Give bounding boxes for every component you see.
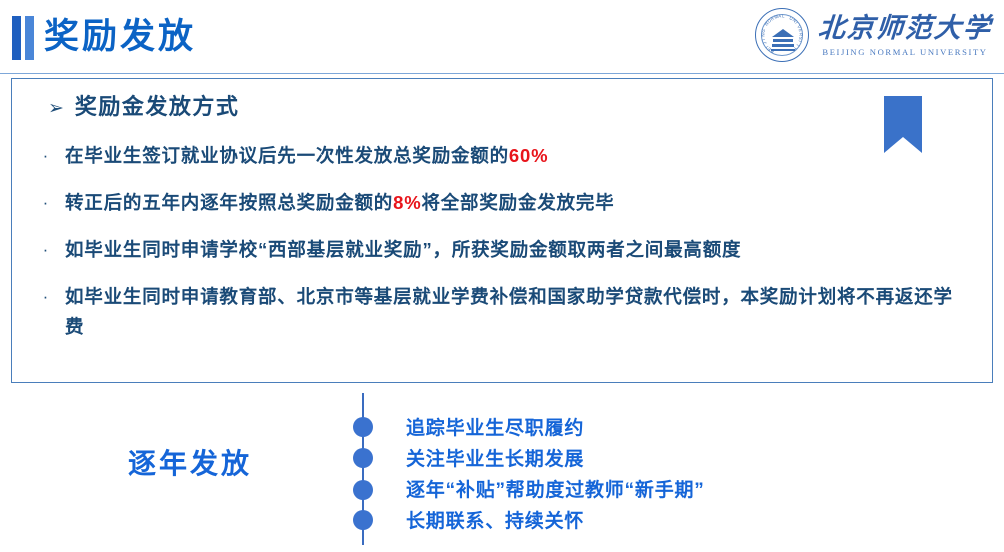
highlighted-percentage: 60% — [509, 145, 548, 166]
lower-benefit-item: 逐年“补贴”帮助度过教师“新手期” — [406, 475, 705, 506]
university-name-cn: 北京师范大学 — [817, 13, 993, 43]
accent-bar-light — [25, 16, 34, 60]
bullet-item: ·转正后的五年内逐年按照总奖励金额的8%将全部奖励金发放完毕 — [42, 188, 970, 218]
bullet-text-segment: 转正后的五年内逐年按照总奖励金额的 — [65, 192, 393, 213]
lower-section: 逐年发放 追踪毕业生尽职履约关注毕业生长期发展逐年“补贴”帮助度过教师“新手期”… — [0, 393, 1004, 552]
university-logo: BEIJING NORMAL UNIVERSITY 北京师范大学 BEIJING… — [755, 8, 992, 62]
bullet-text-segment: 将全部奖励金发放完毕 — [421, 192, 614, 213]
slide-header: 奖励发放 BEIJING NORMAL UNIVERSITY 北京师范大学 BE… — [0, 0, 1004, 74]
timeline-dot-icon — [353, 448, 373, 468]
bullet-text-segment: 在毕业生签订就业协议后先一次性发放总奖励金额的 — [65, 145, 509, 166]
lower-benefit-list: 追踪毕业生尽职履约关注毕业生长期发展逐年“补贴”帮助度过教师“新手期”长期联系、… — [406, 413, 705, 537]
bullet-item-text: 转正后的五年内逐年按照总奖励金额的8%将全部奖励金发放完毕 — [65, 188, 614, 218]
content-panel: ➢ 奖励金发放方式 ·在毕业生签订就业协议后先一次性发放总奖励金额的60%·转正… — [11, 78, 993, 383]
university-name-en: BEIJING NORMAL UNIVERSITY — [822, 47, 987, 57]
bullet-item: ·如毕业生同时申请教育部、北京市等基层就业学费补偿和国家助学贷款代偿时，本奖励计… — [42, 282, 970, 342]
page-title: 奖励发放 — [44, 13, 196, 61]
bullet-dot-icon: · — [42, 235, 49, 264]
timeline-dot-icon — [353, 510, 373, 530]
lower-benefit-item: 长期联系、持续关怀 — [406, 506, 705, 537]
bullet-item: ·如毕业生同时申请学校“西部基层就业奖励”，所获奖励金额取两者之间最高额度 — [42, 235, 970, 265]
bullet-dot-icon: · — [42, 282, 49, 311]
bullet-item: ·在毕业生签订就业协议后先一次性发放总奖励金额的60% — [42, 141, 970, 171]
lower-benefit-item: 追踪毕业生尽职履约 — [406, 413, 705, 444]
timeline-connector — [355, 393, 371, 545]
bullet-list: ·在毕业生签订就业协议后先一次性发放总奖励金额的60%·转正后的五年内逐年按照总… — [42, 141, 970, 359]
timeline-dot-icon — [353, 480, 373, 500]
timeline-dot-icon — [353, 417, 373, 437]
header-divider — [0, 73, 1004, 74]
university-wordmark: 北京师范大学 BEIJING NORMAL UNIVERSITY — [818, 13, 992, 57]
bullet-dot-icon: · — [42, 141, 49, 170]
title-accent-bars — [12, 16, 34, 60]
lower-benefit-item: 关注毕业生长期发展 — [406, 444, 705, 475]
bullet-item-text: 如毕业生同时申请教育部、北京市等基层就业学费补偿和国家助学贷款代偿时，本奖励计划… — [65, 282, 970, 342]
bullet-dot-icon: · — [42, 188, 49, 217]
university-seal-icon: BEIJING NORMAL UNIVERSITY — [755, 8, 809, 62]
accent-bar-dark — [12, 16, 21, 60]
section-heading-label: 奖励金发放方式 — [75, 93, 240, 121]
arrow-bullet-icon: ➢ — [48, 99, 64, 118]
section-heading: ➢ 奖励金发放方式 — [48, 93, 239, 121]
lower-section-label: 逐年发放 — [128, 446, 252, 482]
bullet-item-text: 在毕业生签订就业协议后先一次性发放总奖励金额的60% — [65, 141, 548, 171]
bullet-item-text: 如毕业生同时申请学校“西部基层就业奖励”，所获奖励金额取两者之间最高额度 — [65, 235, 741, 265]
highlighted-percentage: 8% — [393, 192, 421, 213]
bullet-text-segment: 如毕业生同时申请教育部、北京市等基层就业学费补偿和国家助学贷款代偿时，本奖励计划… — [65, 286, 953, 337]
bullet-text-segment: 如毕业生同时申请学校“西部基层就业奖励”，所获奖励金额取两者之间最高额度 — [65, 239, 741, 260]
seal-gate-icon — [769, 21, 797, 51]
